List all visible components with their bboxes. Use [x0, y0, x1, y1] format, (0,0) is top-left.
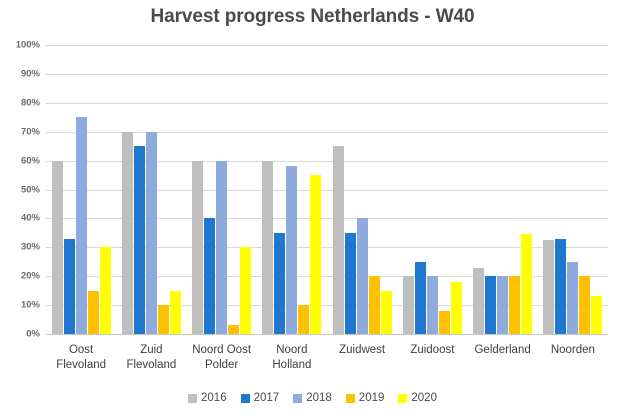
bar-2020 [451, 282, 462, 334]
legend-item-2019[interactable]: 2019 [346, 392, 385, 404]
bar-group [116, 45, 186, 334]
legend-label: 2016 [201, 392, 227, 404]
legend-item-2017[interactable]: 2017 [241, 392, 280, 404]
bar-2017 [64, 239, 75, 334]
legend-item-2020[interactable]: 2020 [398, 392, 437, 404]
legend-swatch-icon [293, 394, 302, 403]
legend-label: 2019 [359, 392, 385, 404]
bar-group [46, 45, 116, 334]
bar-2020 [240, 247, 251, 334]
bar-2020 [591, 296, 602, 334]
gridline [46, 334, 608, 335]
bar-2018 [567, 262, 578, 334]
y-axis-tick-label: 10% [21, 300, 40, 311]
y-axis-tick-label: 90% [21, 68, 40, 79]
bar-2019 [158, 305, 169, 334]
bar-2018 [286, 166, 297, 334]
y-axis-tick-label: 100% [16, 40, 40, 51]
x-axis-category-label: Zuidoost [397, 338, 467, 373]
y-axis-tick-label: 60% [21, 155, 40, 166]
x-axis-category-label: Oost Flevoland [46, 338, 116, 373]
legend-item-2018[interactable]: 2018 [293, 392, 332, 404]
bar-group [468, 45, 538, 334]
bar-group [327, 45, 397, 334]
bar-group [257, 45, 327, 334]
bars-layer [46, 45, 608, 334]
bar-2020 [310, 175, 321, 334]
bar-2018 [216, 161, 227, 334]
bar-2019 [509, 276, 520, 334]
y-axis-tick-label: 0% [26, 329, 40, 340]
bar-2016 [52, 161, 63, 334]
bar-2017 [555, 239, 566, 334]
bar-2017 [274, 233, 285, 334]
bar-group [397, 45, 467, 334]
bar-2019 [369, 276, 380, 334]
x-axis-category-label: Noord Oost Polder [187, 338, 257, 373]
bar-2018 [146, 132, 157, 334]
bar-2018 [357, 218, 368, 334]
bar-2018 [427, 276, 438, 334]
legend-label: 2017 [254, 392, 280, 404]
bar-2016 [192, 161, 203, 334]
legend-label: 2020 [411, 392, 437, 404]
bar-2017 [345, 233, 356, 334]
bar-2016 [122, 132, 133, 334]
x-axis-category-label: Gelderland [468, 338, 538, 373]
y-axis-tick-label: 70% [21, 126, 40, 137]
bar-group [538, 45, 608, 334]
bar-2016 [543, 240, 554, 334]
bar-2018 [497, 276, 508, 334]
bar-2016 [473, 268, 484, 334]
bar-2016 [262, 161, 273, 334]
chart-legend: 20162017201820192020 [0, 392, 625, 404]
bar-2017 [485, 276, 496, 334]
y-axis-tick-label: 50% [21, 184, 40, 195]
x-axis-category-label: Noord Holland [257, 338, 327, 373]
y-axis-tick-label: 40% [21, 213, 40, 224]
bar-chart: Harvest progress Netherlands - W40 0%10%… [0, 0, 625, 414]
bar-2018 [76, 117, 87, 334]
legend-item-2016[interactable]: 2016 [188, 392, 227, 404]
x-axis-category-label: Noorden [538, 338, 608, 373]
legend-label: 2018 [306, 392, 332, 404]
bar-2016 [403, 276, 414, 334]
bar-2020 [100, 247, 111, 334]
y-axis-tick-label: 20% [21, 271, 40, 282]
x-axis-category-label: Zuidwest [327, 338, 397, 373]
bar-2019 [228, 325, 239, 334]
bar-2019 [298, 305, 309, 334]
legend-swatch-icon [241, 394, 250, 403]
x-axis-category-label: Zuid Flevoland [116, 338, 186, 373]
bar-group [187, 45, 257, 334]
legend-swatch-icon [398, 394, 407, 403]
bar-2016 [333, 146, 344, 334]
bar-2017 [134, 146, 145, 334]
bar-2020 [381, 291, 392, 334]
x-axis: Oost FlevolandZuid FlevolandNoord Oost P… [46, 338, 608, 373]
legend-swatch-icon [188, 394, 197, 403]
legend-swatch-icon [346, 394, 355, 403]
chart-title: Harvest progress Netherlands - W40 [0, 6, 625, 28]
bar-2020 [521, 234, 532, 334]
y-axis-tick-label: 80% [21, 97, 40, 108]
bar-2017 [204, 218, 215, 334]
y-axis-tick-label: 30% [21, 242, 40, 253]
bar-2020 [170, 291, 181, 334]
bar-2017 [415, 262, 426, 334]
y-axis: 0%10%20%30%40%50%60%70%80%90%100% [0, 0, 46, 414]
bar-2019 [88, 291, 99, 334]
bar-2019 [439, 311, 450, 334]
bar-2019 [579, 276, 590, 334]
